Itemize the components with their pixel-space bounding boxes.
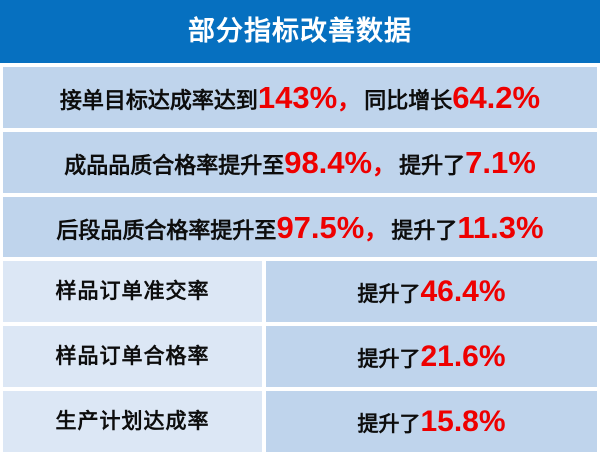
statement-lead-text: 后段品质合格率提升至 — [56, 220, 276, 242]
metric-value-prefix: 提升了 — [357, 349, 420, 370]
metric-value: 21.6% — [420, 342, 505, 372]
metric-value-text: 提升了 21.6% — [357, 342, 505, 372]
table-row: 成品品质合格率提升至 98.4% ， 提升了 7.1% — [3, 132, 597, 193]
metric-label: 样品订单准交率 — [56, 281, 210, 302]
table-row: 后段品质合格率提升至 97.5% ， 提升了 11.3% — [3, 197, 597, 258]
metric-label: 样品订单合格率 — [56, 346, 210, 367]
metric-value: 46.4% — [420, 277, 505, 307]
statement-separator: ， — [337, 89, 361, 113]
statement-mid-text: 提升了 — [391, 220, 457, 242]
statement-row-2: 成品品质合格率提升至 98.4% ， 提升了 7.1% — [3, 132, 597, 193]
metric-value-cell: 提升了 15.8% — [266, 391, 597, 452]
metric-value: 15.8% — [420, 407, 505, 437]
metric-label-cell: 样品订单准交率 — [3, 261, 262, 322]
rows-container: 接单目标达成率达到 143% ， 同比增长 64.2% 成品品质合格率提升至 9… — [0, 63, 600, 452]
statement-primary-value: 143% — [258, 82, 337, 113]
table-row: 样品订单合格率 提升了 21.6% — [3, 326, 597, 387]
metric-label-cell: 样品订单合格率 — [3, 326, 262, 387]
table-row: 接单目标达成率达到 143% ， 同比增长 64.2% — [3, 67, 597, 128]
metric-value-cell: 提升了 21.6% — [266, 326, 597, 387]
page-title: 部分指标改善数据 — [188, 18, 412, 45]
statement-mid-text: 提升了 — [399, 155, 465, 177]
statement-text: 接单目标达成率达到 143% ， 同比增长 64.2% — [60, 82, 540, 113]
board-header: 部分指标改善数据 — [0, 0, 600, 63]
metric-value-text: 提升了 15.8% — [357, 407, 505, 437]
statement-secondary-value: 11.3% — [457, 212, 543, 243]
table-row: 样品订单准交率 提升了 46.4% — [3, 261, 597, 322]
statement-row-3: 后段品质合格率提升至 97.5% ， 提升了 11.3% — [3, 197, 597, 258]
statement-mid-text: 同比增长 — [364, 90, 452, 112]
statement-primary-value: 98.4% — [284, 147, 372, 178]
table-row: 生产计划达成率 提升了 15.8% — [3, 391, 597, 452]
statement-separator: ， — [372, 154, 396, 178]
statement-lead-text: 接单目标达成率达到 — [60, 90, 258, 112]
metric-value-cell: 提升了 46.4% — [266, 261, 597, 322]
statement-text: 成品品质合格率提升至 98.4% ， 提升了 7.1% — [64, 147, 536, 178]
statement-text: 后段品质合格率提升至 97.5% ， 提升了 11.3% — [56, 212, 543, 243]
statement-secondary-value: 64.2% — [452, 82, 540, 113]
metric-value-text: 提升了 46.4% — [357, 277, 505, 307]
statement-lead-text: 成品品质合格率提升至 — [64, 155, 284, 177]
metric-label-cell: 生产计划达成率 — [3, 391, 262, 452]
metric-value-prefix: 提升了 — [357, 284, 420, 305]
statement-row-1: 接单目标达成率达到 143% ， 同比增长 64.2% — [3, 67, 597, 128]
metrics-summary-board: 部分指标改善数据 接单目标达成率达到 143% ， 同比增长 64.2% 成品品… — [0, 0, 600, 452]
statement-separator: ， — [364, 219, 388, 243]
statement-primary-value: 97.5% — [276, 212, 364, 243]
metric-value-prefix: 提升了 — [357, 414, 420, 435]
statement-secondary-value: 7.1% — [465, 147, 536, 178]
metric-label: 生产计划达成率 — [56, 411, 210, 432]
